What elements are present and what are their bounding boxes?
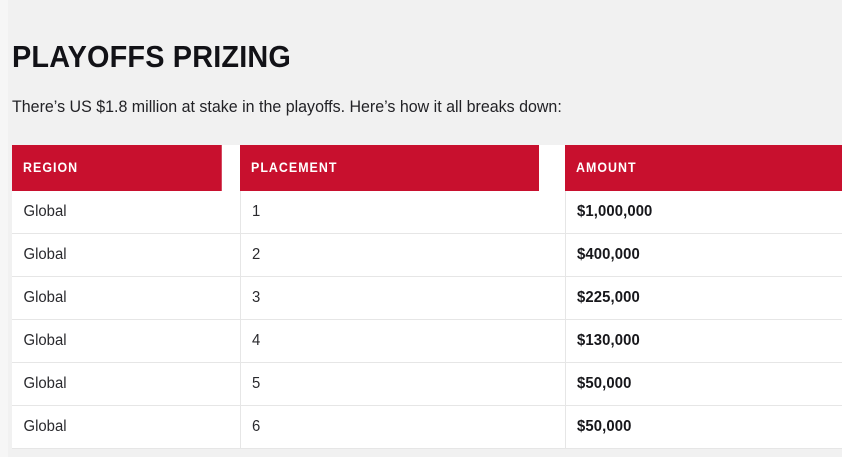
table-row: Global 6 $50,000 xyxy=(12,406,842,449)
cell-placement: 3 xyxy=(240,277,552,320)
cell-placement: 6 xyxy=(240,406,552,449)
cell-placement: 5 xyxy=(240,363,552,406)
table-row: Global 3 $225,000 xyxy=(12,277,842,320)
section-intro-text: There’s US $1.8 million at stake in the … xyxy=(12,74,817,118)
cell-amount: $400,000 xyxy=(565,234,842,277)
prizing-table-container: REGION PLACEMENT AMOUNT Global 1 $1,000,… xyxy=(12,145,842,449)
cell-amount: $225,000 xyxy=(565,277,842,320)
column-header-placement: PLACEMENT xyxy=(240,145,539,191)
cell-region: Global xyxy=(12,277,231,320)
table-header-row: REGION PLACEMENT AMOUNT xyxy=(12,145,842,191)
page-title: PLAYOFFS PRIZING xyxy=(12,0,784,74)
page-content: PLAYOFFS PRIZING There’s US $1.8 million… xyxy=(12,0,842,457)
column-header-amount: AMOUNT xyxy=(565,145,842,191)
cell-region: Global xyxy=(12,406,231,449)
table-row: Global 4 $130,000 xyxy=(12,320,842,363)
table-row: Global 2 $400,000 xyxy=(12,234,842,277)
cell-region: Global xyxy=(12,191,231,234)
cell-amount: $1,000,000 xyxy=(565,191,842,234)
table-header: REGION PLACEMENT AMOUNT xyxy=(12,145,842,191)
cell-placement: 4 xyxy=(240,320,552,363)
cell-amount: $130,000 xyxy=(565,320,842,363)
column-header-region: REGION xyxy=(12,145,222,191)
cell-placement: 1 xyxy=(240,191,552,234)
table-row: Global 5 $50,000 xyxy=(12,363,842,406)
prizing-page: PLAYOFFS PRIZING There’s US $1.8 million… xyxy=(0,0,842,457)
table-body: Global 1 $1,000,000 Global 2 $400,000 Gl… xyxy=(12,191,842,449)
page-left-gutter xyxy=(0,0,8,457)
cell-region: Global xyxy=(12,320,231,363)
cell-amount: $50,000 xyxy=(565,406,842,449)
cell-amount: $50,000 xyxy=(565,363,842,406)
prizing-table: REGION PLACEMENT AMOUNT Global 1 $1,000,… xyxy=(12,145,842,449)
cell-region: Global xyxy=(12,234,231,277)
cell-region: Global xyxy=(12,363,231,406)
cell-placement: 2 xyxy=(240,234,552,277)
table-row: Global 1 $1,000,000 xyxy=(12,191,842,234)
